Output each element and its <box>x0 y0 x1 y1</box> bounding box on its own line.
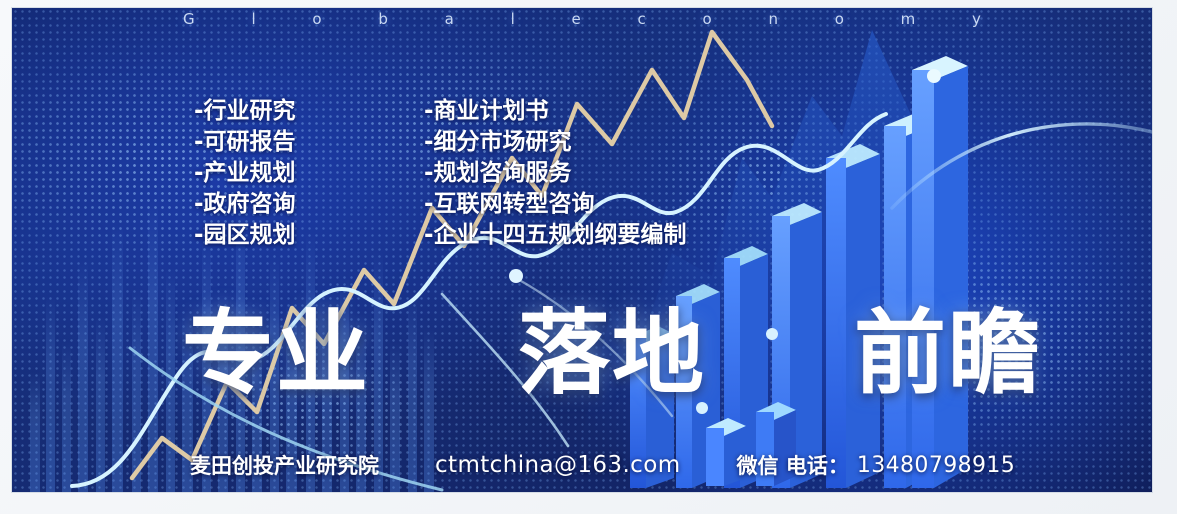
email-address[interactable]: ctmtchina@163.com <box>435 452 681 478</box>
service-item: -产业规划 <box>194 158 296 189</box>
service-list-column-1: -行业研究 -可研报告 -产业规划 -政府咨询 -园区规划 <box>194 96 296 251</box>
service-item: -政府咨询 <box>194 189 296 220</box>
promo-banner: G l o b a l e c o n o m y -行业研究 -可研报告 -产… <box>12 8 1152 492</box>
phone-number[interactable]: 13480798915 <box>857 453 1015 478</box>
headline-word-3: 前瞻 <box>854 308 1042 400</box>
service-item: -细分市场研究 <box>424 127 687 158</box>
service-item: -规划咨询服务 <box>424 158 687 189</box>
headline-word-2: 落地 <box>518 308 706 400</box>
service-item: -互联网转型咨询 <box>424 189 687 220</box>
footer-contact-row: 麦田创投产业研究院 ctmtchina@163.com 微信 电话： 13480… <box>190 448 1070 482</box>
headline-word-1: 专业 <box>182 308 370 400</box>
arc-sweep-right <box>892 124 1152 208</box>
kicker-text: G l o b a l e c o n o m y <box>12 10 1152 28</box>
headline-slogan: 专业 落地 前瞻 <box>182 308 1042 400</box>
service-list-column-2: -商业计划书 -细分市场研究 -规划咨询服务 -互联网转型咨询 -企业十四五规划… <box>424 96 687 251</box>
service-item: -园区规划 <box>194 220 296 251</box>
service-item: -商业计划书 <box>424 96 687 127</box>
node-dot <box>509 269 523 283</box>
wechat-phone-label: 微信 电话： <box>737 450 849 480</box>
organization-name: 麦田创投产业研究院 <box>190 450 379 480</box>
node-dot <box>927 69 941 83</box>
service-item: -企业十四五规划纲要编制 <box>424 220 687 251</box>
poster-frame: G l o b a l e c o n o m y -行业研究 -可研报告 -产… <box>0 0 1177 514</box>
service-item: -可研报告 <box>194 127 296 158</box>
service-item: -行业研究 <box>194 96 296 127</box>
